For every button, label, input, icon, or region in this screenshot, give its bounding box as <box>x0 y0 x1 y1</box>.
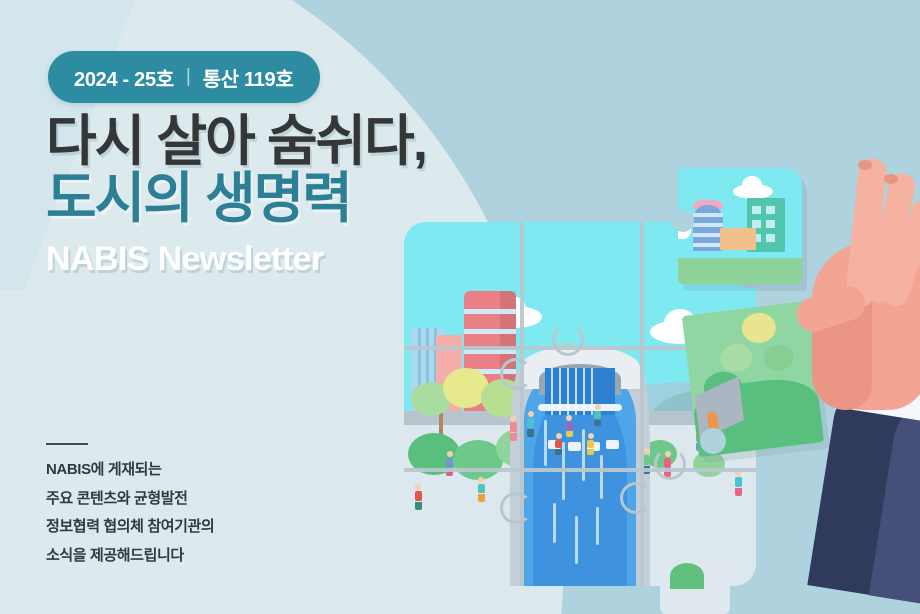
child-on-stones <box>555 433 562 455</box>
puzzle-piece-notch <box>672 210 694 232</box>
puzzle-seam-vertical-2 <box>640 222 644 586</box>
child-playing <box>566 415 573 437</box>
description-line-3: 정보협력 협의체 참여기관의 <box>46 516 214 539</box>
newsletter-subtitle: NABIS Newsletter <box>46 240 426 279</box>
description-divider <box>46 443 88 445</box>
pedestrian <box>478 477 485 502</box>
puzzle-piece-notch <box>700 428 726 454</box>
headline-block: 다시 살아 숨쉬다, 도시의 생명력 NABIS Newsletter <box>46 112 426 279</box>
pedestrian-with-backpack <box>735 470 742 496</box>
puzzle-seam-horizontal-2 <box>404 468 756 472</box>
badge-separator: | <box>186 66 191 88</box>
pedestrian <box>446 451 453 476</box>
pedestrian <box>415 484 422 510</box>
puzzle-knob-a <box>552 324 584 356</box>
puzzle-knob-d <box>620 482 652 514</box>
nabis-newsletter-banner: 2024 - 25호 | 통산 119호 다시 살아 숨쉬다, 도시의 생명력 … <box>0 0 920 614</box>
description-line-1: NABIS에 게재되는 <box>46 459 214 482</box>
piece-building-blue <box>693 205 723 251</box>
waterfall-foam <box>538 404 622 411</box>
child-on-stones <box>587 433 594 455</box>
puzzle-seam-vertical-1 <box>520 222 524 586</box>
pedestrian <box>527 411 534 437</box>
description-line-4: 소식을 제공해드립니다 <box>46 545 214 568</box>
hand-holding-puzzle-piece <box>756 150 920 580</box>
piece-building-beige <box>720 228 756 250</box>
child-playing <box>594 404 601 426</box>
puzzle-knob-f <box>500 492 532 524</box>
fingernail <box>858 160 872 170</box>
piece-shrub <box>670 563 704 589</box>
puzzle-knob-c <box>500 358 532 390</box>
fingernail <box>884 174 898 184</box>
detached-puzzle-piece-small <box>660 560 730 614</box>
pedestrian <box>510 415 517 441</box>
serial-number: 통산 119호 <box>203 63 294 92</box>
issue-number: 2024 - 25호 <box>74 63 174 92</box>
issue-badge: 2024 - 25호 | 통산 119호 <box>48 51 320 103</box>
stepping-stone <box>606 440 619 449</box>
puzzle-knob-b <box>654 448 686 480</box>
headline-line-2: 도시의 생명력 <box>46 168 426 230</box>
headline-line-1: 다시 살아 숨쉬다, <box>46 112 426 170</box>
stepping-stone <box>568 442 581 451</box>
description-line-2: 주요 콘텐츠와 균형발전 <box>46 488 214 511</box>
description-block: NABIS에 게재되는 주요 콘텐츠와 균형발전 정보협력 협의체 참여기관의 … <box>46 459 214 573</box>
